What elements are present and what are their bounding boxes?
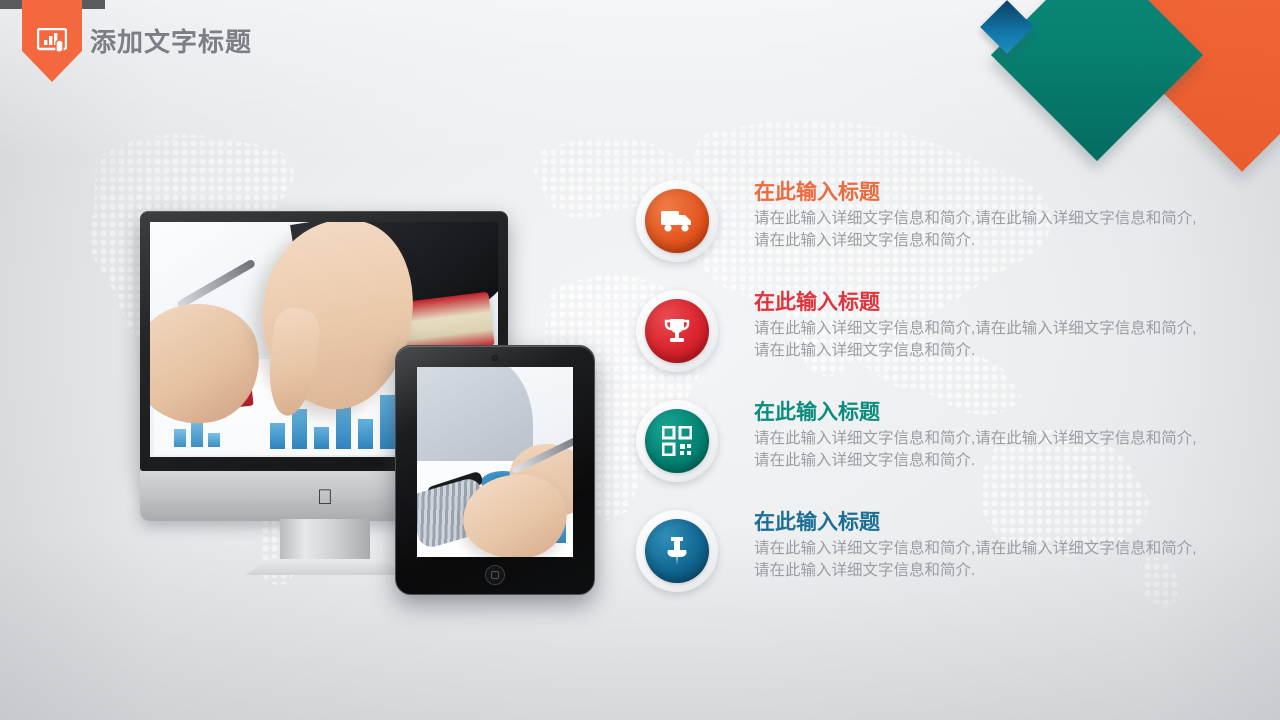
ipad-home-button[interactable] [485, 565, 505, 585]
device-showcase:  [120, 195, 620, 615]
truck-icon [660, 208, 694, 234]
ipad-tablet [395, 345, 595, 595]
feature-title-4: 在此输入标题 [754, 510, 1204, 536]
imac-stand-neck [280, 519, 370, 561]
qr-code-icon [662, 426, 692, 456]
page-title: 添加文字标题 [90, 22, 252, 59]
imac-stand-foot [246, 559, 406, 575]
feature-text-3: 在此输入标题 请在此输入详细文字信息和简介,请在此输入详细文字信息和简介,请在此… [754, 400, 1204, 472]
feature-text-1: 在此输入标题 请在此输入详细文字信息和简介,请在此输入详细文字信息和简介,请在此… [754, 180, 1204, 252]
feature-icon-badge-3[interactable] [636, 400, 718, 482]
feature-desc-3: 请在此输入详细文字信息和简介,请在此输入详细文字信息和简介,请在此输入详细文字信… [754, 428, 1204, 472]
photo-person-writing [417, 367, 573, 557]
feature-row-3[interactable]: 在此输入标题 请在此输入详细文字信息和简介,请在此输入详细文字信息和简介,请在此… [636, 400, 1236, 510]
feature-text-2: 在此输入标题 请在此输入详细文字信息和简介,请在此输入详细文字信息和简介,请在此… [754, 290, 1204, 362]
feature-title-1: 在此输入标题 [754, 180, 1204, 206]
feature-icon-badge-1[interactable] [636, 180, 718, 262]
feature-list: 在此输入标题 请在此输入详细文字信息和简介,请在此输入详细文字信息和简介,请在此… [636, 180, 1236, 620]
feature-icon-badge-2[interactable] [636, 290, 718, 372]
feature-title-2: 在此输入标题 [754, 290, 1204, 316]
pushpin-icon [663, 535, 691, 567]
apple-logo:  [316, 487, 334, 509]
trophy-icon [662, 316, 692, 346]
feature-icon-badge-4[interactable] [636, 510, 718, 592]
ipad-screen-photo [417, 367, 573, 557]
slide-canvas: 添加文字标题 [0, 0, 1280, 720]
feature-desc-1: 请在此输入详细文字信息和简介,请在此输入详细文字信息和简介,请在此输入详细文字信… [754, 208, 1204, 252]
feature-title-3: 在此输入标题 [754, 400, 1204, 426]
feature-desc-4: 请在此输入详细文字信息和简介,请在此输入详细文字信息和简介,请在此输入详细文字信… [754, 538, 1204, 582]
presentation-chart-touch-icon [30, 24, 74, 58]
feature-desc-2: 请在此输入详细文字信息和简介,请在此输入详细文字信息和简介,请在此输入详细文字信… [754, 318, 1204, 362]
feature-row-2[interactable]: 在此输入标题 请在此输入详细文字信息和简介,请在此输入详细文字信息和简介,请在此… [636, 290, 1236, 400]
ipad-camera [492, 355, 498, 361]
feature-row-4[interactable]: 在此输入标题 请在此输入详细文字信息和简介,请在此输入详细文字信息和简介,请在此… [636, 510, 1236, 620]
feature-row-1[interactable]: 在此输入标题 请在此输入详细文字信息和简介,请在此输入详细文字信息和简介,请在此… [636, 180, 1236, 290]
feature-text-4: 在此输入标题 请在此输入详细文字信息和简介,请在此输入详细文字信息和简介,请在此… [754, 510, 1204, 582]
